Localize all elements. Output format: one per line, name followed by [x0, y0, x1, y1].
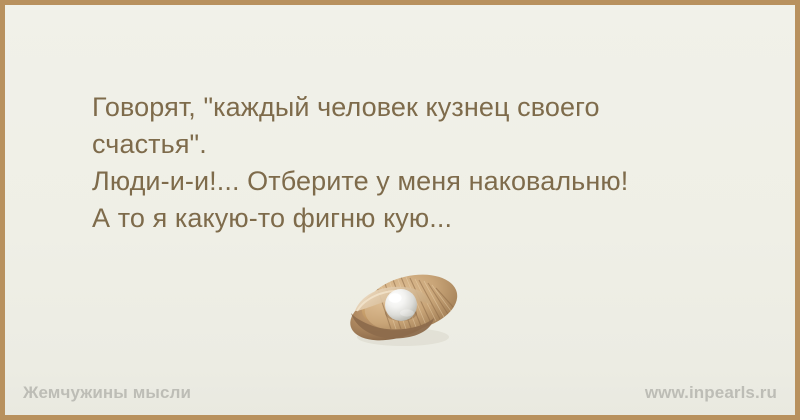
quote-line: счастья". [92, 126, 732, 163]
pearl [385, 289, 417, 321]
quote-text-block: Говорят, "каждый человек кузнец своего с… [92, 89, 732, 237]
quote-card: Говорят, "каждый человек кузнец своего с… [0, 0, 800, 420]
quote-line: Говорят, "каждый человек кузнец своего [92, 89, 732, 126]
quote-line: А то я какую-то фигню кую... [92, 200, 732, 237]
pearl-specular-highlight [389, 293, 402, 303]
footer: Жемчужины мысли www.inpearls.ru [5, 367, 795, 415]
footer-brand-label: Жемчужины мысли [23, 383, 191, 403]
quote-line: Люди-и-и!... Отберите у меня наковальню! [92, 163, 732, 200]
footer-site-url[interactable]: www.inpearls.ru [645, 383, 777, 403]
seashell-with-pearl-image [335, 267, 475, 355]
